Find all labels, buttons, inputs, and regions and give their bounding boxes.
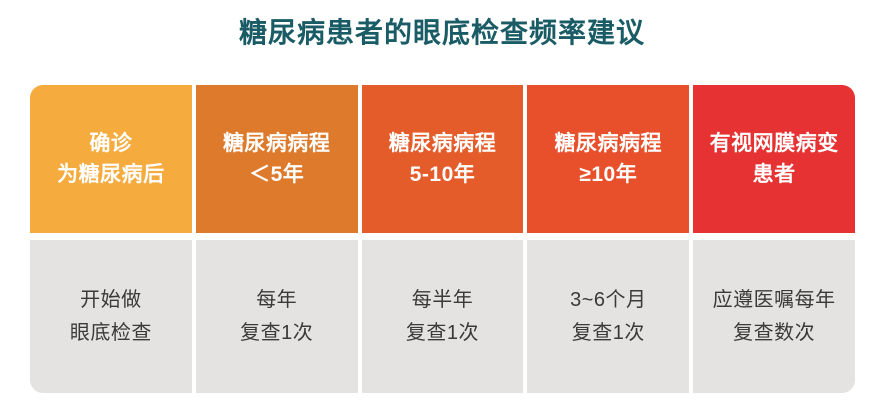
table-header-row: 确诊 为糖尿病后 糖尿病病程 ＜5年 糖尿病病程 5-10年 糖尿病病程 ≥10… — [30, 85, 855, 233]
recommendation-table: 确诊 为糖尿病后 糖尿病病程 ＜5年 糖尿病病程 5-10年 糖尿病病程 ≥10… — [30, 85, 855, 393]
body-cell-1: 每年 复查1次 — [196, 240, 358, 393]
table-body-row: 开始做 眼底检查 每年 复查1次 每半年 复查1次 3~6个月 复查1次 应遵医… — [30, 240, 855, 393]
page-title: 糖尿病患者的眼底检查频率建议 — [0, 14, 884, 52]
header-cell-4-label: 有视网膜病变 患者 — [710, 128, 839, 190]
body-cell-0-label: 开始做 眼底检查 — [70, 284, 152, 350]
header-cell-2: 糖尿病病程 5-10年 — [362, 85, 524, 233]
body-cell-4-label: 应遵医嘱每年 复查数次 — [713, 284, 836, 350]
body-cell-4: 应遵医嘱每年 复查数次 — [693, 240, 855, 393]
header-cell-3: 糖尿病病程 ≥10年 — [527, 85, 689, 233]
header-cell-1: 糖尿病病程 ＜5年 — [196, 85, 358, 233]
body-cell-3: 3~6个月 复查1次 — [527, 240, 689, 393]
body-cell-2-label: 每半年 复查1次 — [406, 284, 479, 350]
header-cell-3-label: 糖尿病病程 ≥10年 — [555, 128, 663, 190]
header-cell-4: 有视网膜病变 患者 — [693, 85, 855, 233]
header-cell-1-label: 糖尿病病程 ＜5年 — [223, 128, 331, 190]
body-cell-2: 每半年 复查1次 — [362, 240, 524, 393]
header-cell-0-label: 确诊 为糖尿病后 — [57, 128, 165, 190]
infographic-page: 糖尿病患者的眼底检查频率建议 确诊 为糖尿病后 糖尿病病程 ＜5年 糖尿病病程 … — [0, 0, 884, 413]
header-cell-2-label: 糖尿病病程 5-10年 — [389, 128, 497, 190]
body-cell-1-label: 每年 复查1次 — [240, 284, 313, 350]
body-cell-0: 开始做 眼底检查 — [30, 240, 192, 393]
header-cell-0: 确诊 为糖尿病后 — [30, 85, 192, 233]
body-cell-3-label: 3~6个月 复查1次 — [570, 284, 646, 350]
